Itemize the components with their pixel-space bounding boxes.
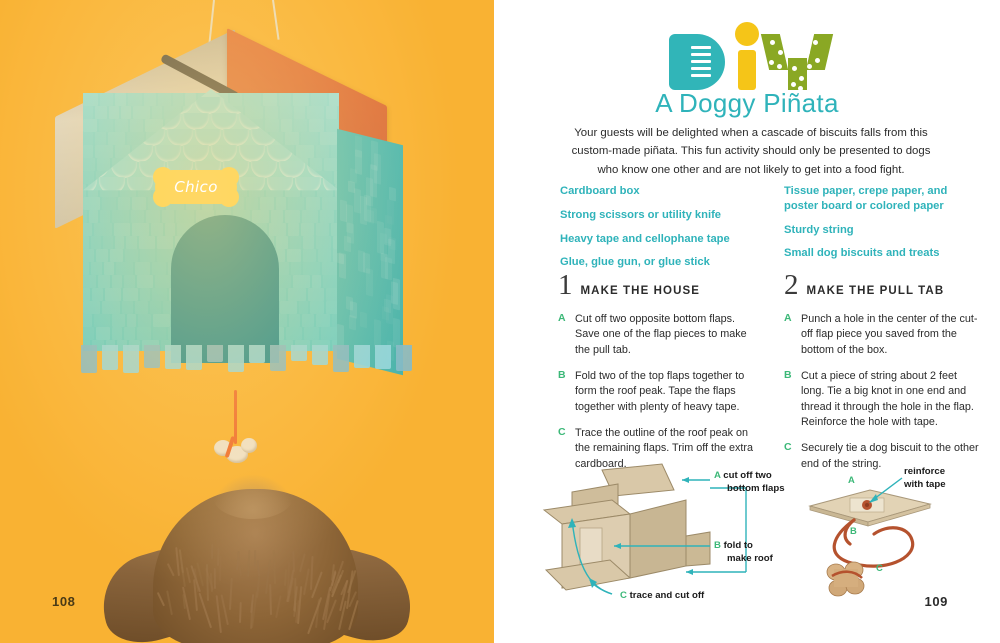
diy-logo [669, 20, 829, 90]
fringe-strip [116, 262, 133, 275]
fringe-strip [244, 93, 261, 106]
substep-letter: A [784, 312, 794, 358]
fringe-strip [165, 223, 175, 236]
string-label-c: C [876, 562, 883, 573]
fringe-strip [153, 327, 166, 340]
bottom-fringe-tab [144, 345, 160, 368]
fringe-strip [173, 93, 183, 106]
fringe-strip [83, 223, 92, 236]
fringe-strip [158, 93, 171, 106]
material-item: Strong scissors or utility knife [560, 208, 756, 223]
logo-y-dot [791, 82, 796, 87]
fringe-strip [83, 288, 90, 301]
fringe-strip [281, 119, 292, 132]
fringe-strip [102, 301, 120, 314]
side-fringe-strip [360, 312, 367, 329]
fringe-strip [122, 301, 133, 314]
shingle [211, 113, 237, 130]
substep-letter: A [558, 312, 568, 358]
cardboard-box-diagram: A cut off two bottom flaps B fold to mak… [534, 462, 784, 607]
fringe-strip [286, 327, 302, 340]
fringe-strip [137, 327, 151, 340]
side-fringe-strip [387, 199, 394, 224]
side-fringe-strip [367, 209, 374, 224]
bottom-fringe-tab [165, 345, 181, 369]
fringe-strip [127, 132, 144, 145]
fringe-strip [140, 249, 155, 262]
fringe-strip [269, 223, 286, 236]
box-label-b: B fold to [714, 540, 753, 551]
fringe-strip [151, 223, 163, 236]
doghouse-pinata: Chico [45, 45, 410, 410]
shingle [239, 145, 265, 162]
side-fringe-strip [366, 177, 373, 207]
side-fringe-strip [384, 227, 391, 246]
fringe-strip [132, 197, 146, 210]
logo-y-dot [770, 40, 775, 45]
fringe-strip [288, 197, 304, 210]
shingle [195, 129, 221, 146]
steps-container: 1 MAKE THE HOUSE A Cut off two opposite … [558, 272, 982, 483]
side-fringe-strip [377, 221, 384, 254]
bone-knob [219, 187, 239, 207]
fringe-strip [83, 171, 94, 184]
side-fringe-strip [393, 318, 400, 349]
substep: B Fold two of the top flaps together to … [558, 369, 756, 415]
fringe-strip [301, 132, 318, 145]
box-label-a: A cut off two [714, 470, 772, 481]
side-fringe-strip [385, 257, 392, 281]
fringe-strip [91, 236, 101, 249]
side-fringe-strip [354, 188, 361, 214]
fringe-strip [110, 249, 123, 262]
fringe-strip [162, 210, 174, 223]
fringe-strip [83, 314, 92, 327]
fringe-strip [279, 93, 291, 106]
hanging-string-right [272, 0, 280, 40]
box-label-b-line2: make roof [727, 553, 773, 564]
fringe-strip [115, 93, 126, 106]
material-item: Tissue paper, crepe paper, and poster bo… [784, 184, 980, 214]
fringe-strip [83, 93, 98, 106]
shingle [223, 129, 249, 146]
fringe-strip [126, 236, 137, 249]
fringe-strip [83, 106, 93, 119]
substep: A Cut off two opposite bottom flaps. Sav… [558, 312, 756, 358]
substep-text: Cut off two opposite bottom flaps. Save … [575, 312, 756, 358]
pull-tab-diagram-svg [792, 462, 1000, 607]
fringe-strip [306, 197, 320, 210]
fringe-strip [140, 288, 150, 301]
fringe-strip [133, 106, 150, 119]
fringe-strip [326, 106, 337, 119]
bottom-fringe-tab [333, 345, 349, 372]
fringe-strip [124, 275, 135, 288]
fringe-strip [112, 327, 122, 340]
fringe-strip [132, 223, 149, 236]
fringe-strip [293, 93, 309, 106]
bone-knob [153, 187, 173, 207]
fringe-strip [293, 275, 310, 288]
fringe-strip [118, 197, 130, 210]
fringe-strip [246, 197, 258, 210]
logo-y-dot [807, 64, 812, 69]
box-label-c-letter: C [620, 590, 627, 601]
fringe-strip [135, 301, 148, 314]
fringe-strip [303, 249, 316, 262]
bottom-fringe-tab [249, 345, 265, 363]
fringe-strip [265, 106, 278, 119]
fringe-strip [89, 210, 98, 223]
fringe-strip [310, 301, 324, 314]
fringe-strip [83, 158, 95, 171]
fringe-strip [112, 314, 125, 327]
fringe-strip [83, 132, 93, 145]
fringe-strip [144, 93, 156, 106]
bone-nameplate: Chico [155, 170, 237, 204]
reinforce-note-line1: reinforce [904, 466, 945, 477]
fringe-strip [294, 106, 305, 119]
fringe-strip [83, 119, 97, 132]
fringe-strip [307, 106, 324, 119]
fringe-strip [285, 210, 300, 223]
fringe-strip [316, 145, 329, 158]
fringe-strip [265, 119, 279, 132]
logo-letter-i-dot-icon [735, 22, 759, 46]
side-fringe-strip [347, 222, 354, 244]
biscuit-part [241, 438, 257, 453]
fur-wisp [269, 584, 272, 615]
fringe-strip [115, 119, 128, 132]
bottom-fringe-tab [123, 345, 139, 373]
shingle [183, 113, 209, 130]
material-item: Glue, glue gun, or glue stick [560, 255, 756, 270]
fringe-strip [83, 327, 94, 340]
fringe-strip [308, 288, 324, 301]
box-label-a-line1: cut off two [723, 470, 772, 481]
fringe-strip [95, 106, 107, 119]
fringe-strip [157, 236, 173, 249]
fringe-strip [303, 262, 320, 275]
fringe-strip [271, 210, 283, 223]
substep: A Punch a hole in the center of the cut-… [784, 312, 982, 358]
fringe-strip [316, 314, 330, 327]
logo-y-dot [799, 76, 804, 81]
material-item: Sturdy string [784, 223, 980, 238]
page-number-right: 109 [925, 594, 949, 609]
fringe-strip [260, 197, 274, 210]
fringe-strip [296, 145, 314, 158]
shingle [183, 145, 209, 162]
fringe-strip [92, 288, 103, 301]
fringe-strip [290, 236, 301, 249]
fringe-strip [105, 288, 121, 301]
logo-y-dot [777, 64, 782, 69]
fringe-strip [95, 132, 106, 145]
fringe-strip [109, 106, 119, 119]
intro-paragraph: Your guests will be delighted when a cas… [560, 124, 942, 179]
fringe-strip [303, 236, 314, 249]
fringe-strip [329, 93, 339, 106]
bottom-fringe-tab [228, 345, 244, 372]
shingle [167, 129, 193, 146]
fringe-strip [263, 93, 277, 106]
fringe-strip [230, 93, 242, 106]
fringe-strip [131, 210, 144, 223]
fringe-strip [83, 275, 96, 288]
fringe-strip [103, 236, 113, 249]
photo-page: Chico 108 [0, 0, 494, 643]
bottom-fringe [81, 345, 411, 371]
fringe-strip [115, 236, 124, 249]
page-title: A Doggy Piñata [494, 88, 1000, 119]
page-number-left: 108 [52, 594, 76, 609]
side-fringe-strip [389, 187, 396, 202]
material-item: Cardboard box [560, 184, 756, 199]
bottom-fringe-tab [102, 345, 118, 370]
step-1-heading: 1 MAKE THE HOUSE [558, 272, 756, 298]
fringe-strip [301, 223, 314, 236]
fringe-strip [320, 210, 334, 223]
substep-letter: B [558, 369, 568, 415]
shingle [391, 97, 417, 114]
dog-biscuit [214, 436, 258, 466]
bottom-fringe-tab [270, 345, 286, 371]
fringe-strip [280, 106, 292, 119]
fringe-strip [323, 275, 338, 288]
fringe-strip [276, 236, 288, 249]
fringe-strip [102, 197, 116, 210]
logo-y-dot [805, 50, 810, 55]
fringe-strip [104, 262, 114, 275]
side-fringe-strip [346, 296, 353, 310]
bottom-fringe-tab [312, 345, 328, 365]
fringe-strip [291, 262, 301, 275]
dog-head-tuft [213, 475, 293, 519]
fringe-strip [289, 314, 300, 327]
fringe-strip [94, 223, 112, 236]
string-label-b: B [850, 525, 857, 536]
fringe-strip [309, 119, 324, 132]
fringe-strip [152, 262, 166, 275]
side-fringe-strip [339, 253, 346, 279]
fringe-strip [128, 93, 142, 106]
fringe-strip [153, 314, 170, 327]
bottom-fringe-tab [207, 345, 223, 362]
side-fringe-strip [393, 277, 400, 310]
fringe-strip [100, 93, 113, 106]
fringe-strip [83, 145, 93, 158]
logo-letter-y-icon [765, 34, 829, 90]
fringe-strip [96, 249, 108, 262]
fringe-strip [96, 327, 110, 340]
bone-knob [153, 167, 173, 187]
side-fringe-strip [366, 268, 373, 297]
substep-letter: B [784, 369, 794, 430]
book-spread: Chico 108 [0, 0, 1000, 643]
logo-y-dot [815, 58, 820, 63]
material-item: Small dog biscuits and treats [784, 246, 980, 261]
bottom-fringe-tab [291, 345, 307, 361]
logo-y-arm-left [761, 34, 788, 70]
materials-column-right: Tissue paper, crepe paper, and poster bo… [784, 184, 980, 279]
fringe-strip [138, 314, 151, 327]
logo-y-dot [769, 60, 774, 65]
fringe-strip [127, 314, 136, 327]
shingle [195, 97, 221, 114]
doghouse-door [171, 215, 279, 363]
bottom-fringe-tab [396, 345, 412, 371]
house-side-face [337, 129, 403, 375]
fringe-strip [83, 184, 86, 197]
fringe-strip [83, 197, 100, 210]
fringe-strip [83, 249, 94, 262]
fringe-strip [245, 106, 263, 119]
fringe-strip [112, 210, 129, 223]
side-fringe-strip [384, 299, 391, 314]
diagrams-container: A cut off two bottom flaps B fold to mak… [534, 462, 1000, 607]
fringe-strip [299, 301, 308, 314]
step-2-heading: 2 MAKE THE PULL TAB [784, 272, 982, 298]
fringe-strip [304, 327, 319, 340]
nameplate-text: Chico [174, 178, 218, 196]
fringe-strip [108, 132, 125, 145]
fringe-strip [130, 119, 143, 132]
dog-photo-subject [105, 469, 405, 643]
step-2: 2 MAKE THE PULL TAB A Punch a hole in th… [784, 272, 982, 483]
fringe-strip [280, 301, 297, 314]
fringe-strip [97, 158, 110, 171]
bottom-fringe-tab [81, 345, 97, 373]
fringe-strip [311, 93, 327, 106]
fringe-strip [316, 236, 331, 249]
step-number: 2 [784, 272, 799, 298]
fringe-strip [137, 275, 153, 288]
shingle [279, 161, 305, 178]
substep-text: Cut a piece of string about 2 feet long.… [801, 369, 982, 430]
string-label-a: A [848, 474, 855, 485]
bottom-fringe-tab [375, 345, 391, 369]
fringe-strip [95, 145, 113, 158]
step-number: 1 [558, 272, 573, 298]
fringe-strip [112, 275, 122, 288]
fringe-strip [285, 132, 299, 145]
shingle [211, 145, 237, 162]
step-title: MAKE THE PULL TAB [807, 285, 945, 297]
fur-wisp [284, 569, 287, 586]
shingle [251, 161, 277, 178]
shingle [155, 145, 181, 162]
material-item: Heavy tape and cellophane tape [560, 232, 756, 247]
side-fringe-strip [371, 141, 378, 171]
fringe-strip [318, 249, 331, 262]
bottom-fringe-tab [186, 345, 202, 370]
fringe-strip [176, 210, 194, 223]
instructions-page: A Doggy Piñata Your guests will be delig… [494, 0, 1000, 643]
materials-column-left: Cardboard box Strong scissors or utility… [560, 184, 756, 279]
fringe-strip [288, 223, 299, 236]
fringe-strip [320, 132, 337, 145]
step-title: MAKE THE HOUSE [581, 285, 701, 297]
fringe-strip [124, 327, 135, 340]
fringe-strip [114, 223, 130, 236]
fringe-strip [288, 288, 306, 301]
fringe-strip [294, 119, 307, 132]
substep-text: Punch a hole in the center of the cut-of… [801, 312, 982, 358]
logo-d-stripes [691, 46, 711, 80]
pull-tab-diagram: reinforce with tape A B C [792, 462, 1000, 607]
box-label-a-letter: A [714, 470, 721, 481]
bottom-fringe-tab [354, 345, 370, 368]
box-label-b-letter: B [714, 540, 721, 551]
fur-wisp [254, 550, 256, 567]
logo-y-dot [792, 66, 797, 71]
fringe-strip [83, 262, 89, 275]
fringe-strip [91, 262, 102, 275]
fringe-strip [146, 210, 160, 223]
box-label-b-line1: fold to [724, 540, 753, 551]
substep: B Cut a piece of string about 2 feet lon… [784, 369, 982, 430]
fringe-strip [252, 210, 269, 223]
fringe-strip [123, 288, 138, 301]
box-label-c-text: trace and cut off [630, 590, 705, 601]
logo-y-dot [778, 50, 783, 55]
logo-y-dot [813, 40, 818, 45]
fringe-strip [276, 197, 286, 210]
fringe-strip [98, 275, 110, 288]
fringe-strip [155, 275, 170, 288]
fringe-strip [302, 210, 318, 223]
reinforce-note-line2: with tape [904, 479, 946, 490]
materials-list: Cardboard box Strong scissors or utility… [560, 184, 980, 279]
fringe-strip [324, 158, 337, 171]
fringe-strip [312, 275, 321, 288]
fringe-strip [152, 288, 167, 301]
fringe-strip [83, 301, 100, 314]
box-label-c: C trace and cut off [620, 590, 704, 601]
substep-text: Fold two of the top flaps together to fo… [575, 369, 756, 415]
box-label-a-line2: bottom flaps [727, 483, 785, 494]
fringe-strip [302, 314, 314, 327]
fringe-strip [83, 210, 87, 223]
fringe-strip [287, 249, 301, 262]
fringe-strip [150, 301, 161, 314]
logo-letter-i-stem-icon [738, 50, 756, 90]
fringe-strip [152, 106, 162, 119]
logo-letter-d-icon [669, 34, 725, 90]
fringe-strip [125, 249, 138, 262]
step-1: 1 MAKE THE HOUSE A Cut off two opposite … [558, 272, 756, 483]
fringe-strip [99, 119, 113, 132]
fringe-strip [135, 262, 150, 275]
fringe-strip [316, 223, 329, 236]
fringe-strip [100, 210, 110, 223]
side-fringe-strip [350, 168, 357, 184]
fringe-strip [83, 236, 89, 249]
fringe-strip [121, 106, 131, 119]
bone-knob [219, 167, 239, 187]
fringe-strip [139, 236, 155, 249]
fringe-strip [94, 314, 110, 327]
